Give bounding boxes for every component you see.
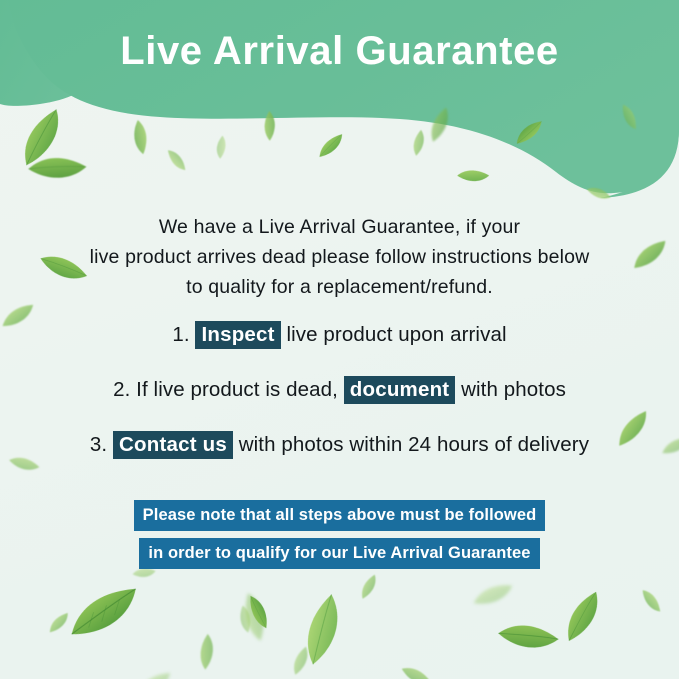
step-text-2-before: If live product is dead, (136, 378, 338, 401)
step-highlight-inspect[interactable]: Inspect (195, 321, 280, 349)
step-number-3: 3. (90, 433, 107, 456)
step-item-2: 2. If live product is dead, document wit… (20, 375, 659, 405)
poster-content: We have a Live Arrival Guarantee, if you… (0, 0, 679, 679)
step-item-1: 1. Inspect live product upon arrival (20, 320, 659, 350)
step-text-2-after: with photos (461, 378, 566, 401)
step-highlight-document[interactable]: document (344, 376, 456, 404)
intro-line-2: live product arrives dead please follow … (55, 242, 624, 272)
step-text-3: with photos within 24 hours of delivery (239, 433, 589, 456)
footnote-line-1: Please note that all steps above must be… (134, 500, 546, 531)
intro-line-3: to quality for a replacement/refund. (55, 272, 624, 302)
footnote-row-2: in order to qualify for our Live Arrival… (0, 538, 679, 569)
footnote-row-1: Please note that all steps above must be… (0, 500, 679, 531)
step-number-2: 2. (113, 378, 130, 401)
step-highlight-contact-us[interactable]: Contact us (113, 431, 233, 459)
intro-line-1: We have a Live Arrival Guarantee, if you… (55, 212, 624, 242)
step-item-3: 3. Contact us with photos within 24 hour… (20, 430, 659, 460)
step-text-1: live product upon arrival (286, 323, 506, 346)
steps-list: 1. Inspect live product upon arrival 2. … (20, 320, 659, 485)
footnote-block: Please note that all steps above must be… (0, 500, 679, 576)
footnote-line-2: in order to qualify for our Live Arrival… (139, 538, 539, 569)
step-number-1: 1. (172, 323, 189, 346)
live-arrival-guarantee-poster: Live Arrival Guarantee (0, 0, 679, 679)
intro-paragraph: We have a Live Arrival Guarantee, if you… (55, 212, 624, 302)
